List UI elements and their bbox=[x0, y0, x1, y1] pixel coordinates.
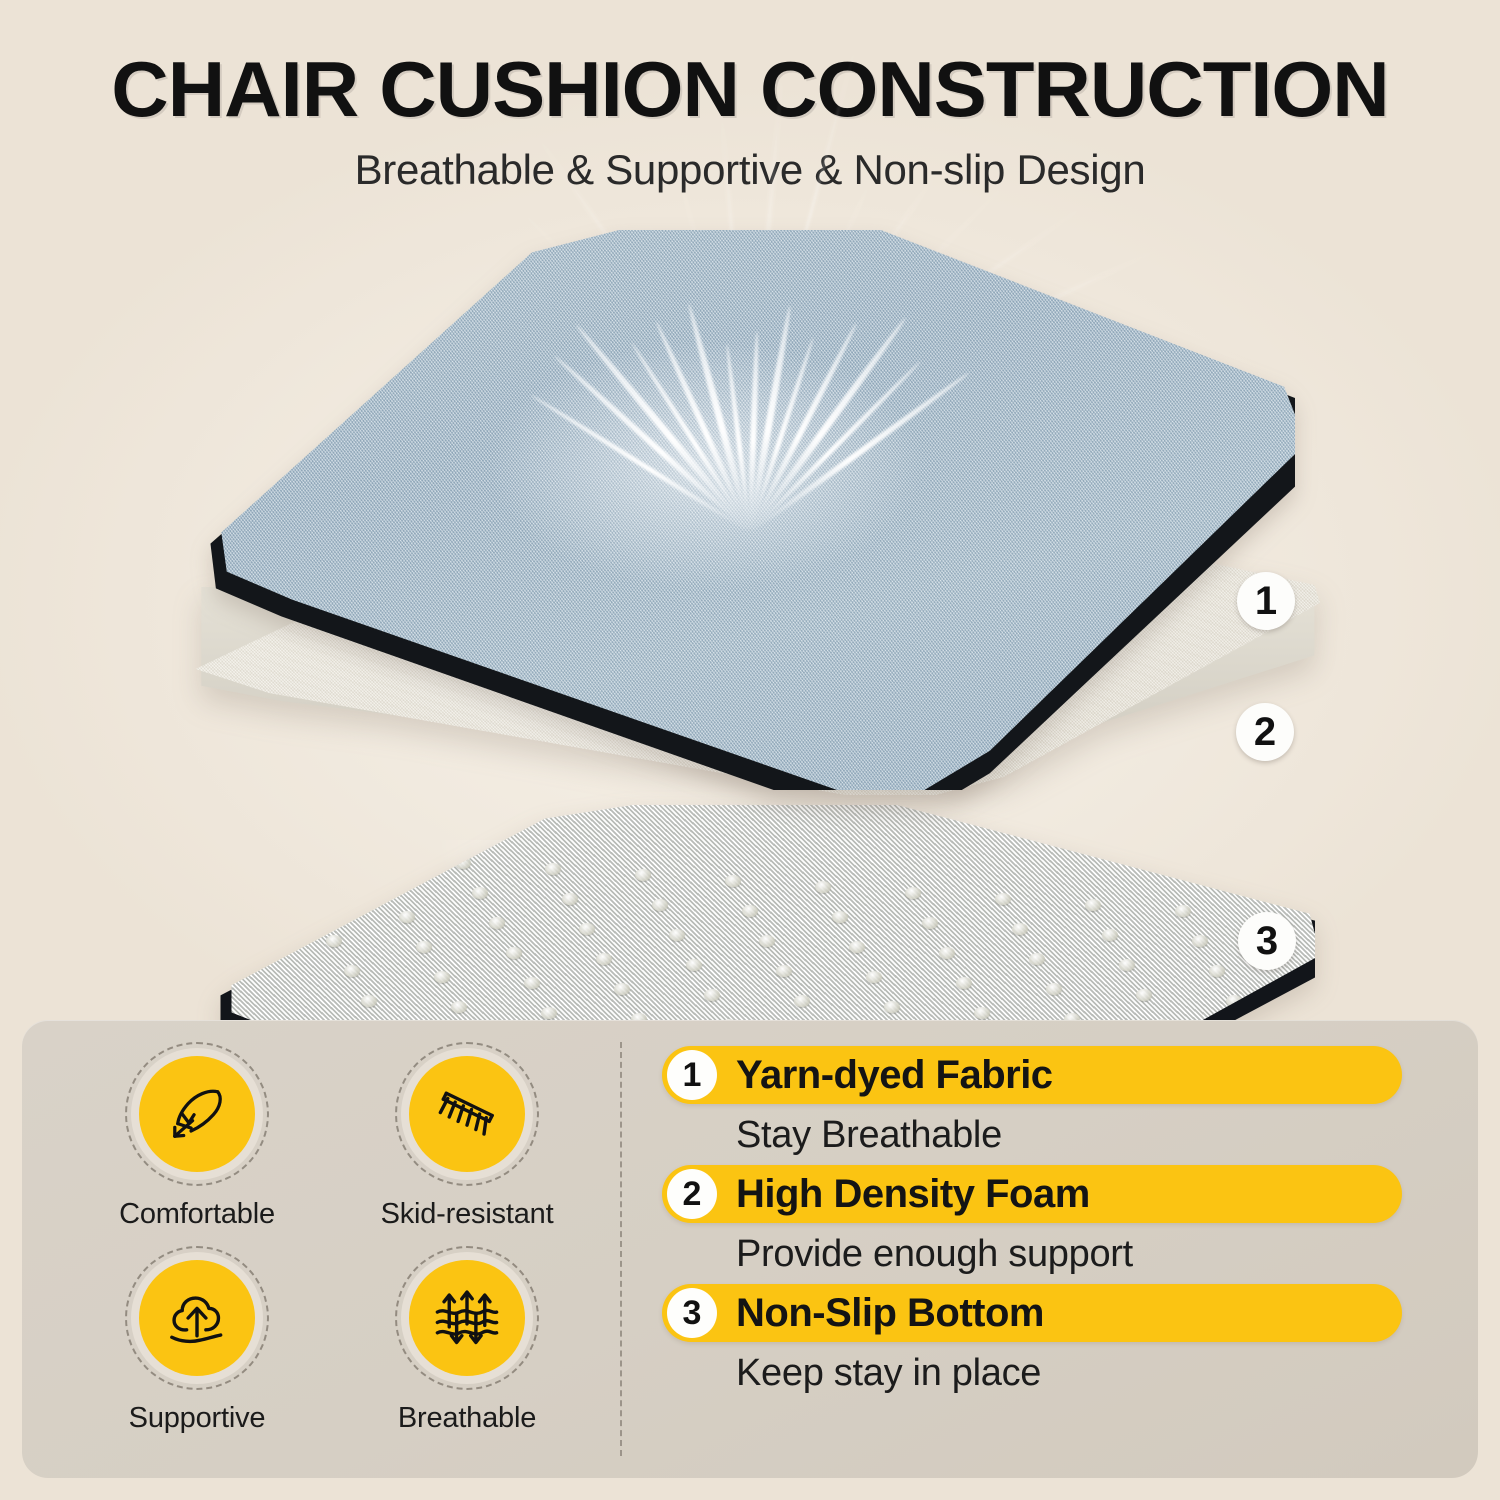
silicone-dot bbox=[1119, 959, 1135, 971]
feature-icon-grid: Comfortable bbox=[62, 1046, 602, 1454]
layer-list-item-1[interactable]: 1 Yarn-dyed Fabric Stay Breathable bbox=[662, 1046, 1452, 1157]
silicone-dot bbox=[344, 965, 360, 977]
silicone-dot bbox=[326, 935, 342, 947]
silicone-dot bbox=[849, 941, 865, 953]
silicone-dot bbox=[1046, 983, 1062, 995]
feature-supportive[interactable]: Supportive bbox=[62, 1250, 332, 1454]
header: CHAIR CUSHION CONSTRUCTION Breathable & … bbox=[0, 0, 1500, 194]
layer-feature-list: 1 Yarn-dyed Fabric Stay Breathable 2 Hig… bbox=[662, 1046, 1452, 1403]
layer-list-item-2[interactable]: 2 High Density Foam Provide enough suppo… bbox=[662, 1165, 1452, 1276]
silicone-dot bbox=[1102, 929, 1118, 941]
silicone-dot bbox=[884, 1001, 900, 1013]
silicone-dot bbox=[669, 929, 685, 941]
silicone-dot bbox=[1192, 935, 1208, 947]
feature-label: Supportive bbox=[129, 1402, 266, 1435]
poster-canvas: CHAIR CUSHION CONSTRUCTION Breathable & … bbox=[0, 0, 1500, 1500]
silicone-dot bbox=[686, 959, 702, 971]
feature-breathable[interactable]: Breathable bbox=[332, 1250, 602, 1454]
silicone-dot bbox=[506, 947, 522, 959]
layer-title: Non-Slip Bottom bbox=[736, 1291, 1044, 1336]
page-subtitle: Breathable & Supportive & Non-slip Desig… bbox=[0, 146, 1500, 194]
diagram-badge-1: 1 bbox=[1237, 572, 1295, 630]
silicone-dot bbox=[776, 965, 792, 977]
diagram-badge-2: 2 bbox=[1236, 703, 1294, 761]
layer-subtitle: Keep stay in place bbox=[736, 1352, 1452, 1395]
silicone-dot bbox=[524, 977, 540, 989]
features-panel: Comfortable bbox=[22, 1020, 1478, 1478]
layer-pill-2[interactable]: 2 High Density Foam bbox=[662, 1165, 1402, 1223]
feature-skid-resistant[interactable]: Skid-resistant bbox=[332, 1046, 602, 1250]
airflow-arrows-waves-icon bbox=[430, 1281, 504, 1355]
silicone-dot bbox=[596, 953, 612, 965]
layer-number-badge: 3 bbox=[667, 1288, 717, 1338]
feature-label: Skid-resistant bbox=[381, 1198, 554, 1231]
silicone-dot bbox=[974, 1007, 990, 1019]
silicone-dot bbox=[361, 995, 377, 1007]
silicone-dot bbox=[1136, 989, 1152, 1001]
brush-bristles-icon-circle bbox=[409, 1056, 525, 1172]
layer-pill-1[interactable]: 1 Yarn-dyed Fabric bbox=[662, 1046, 1402, 1104]
panel-divider bbox=[620, 1042, 622, 1456]
layer-number-badge: 1 bbox=[667, 1050, 717, 1100]
silicone-dot bbox=[939, 947, 955, 959]
layer-pill-3[interactable]: 3 Non-Slip Bottom bbox=[662, 1284, 1402, 1342]
light-streak bbox=[748, 371, 971, 535]
feather-icon-circle bbox=[139, 1056, 255, 1172]
silicone-dot bbox=[614, 983, 630, 995]
silicone-dot bbox=[866, 971, 882, 983]
diagram-badge-3: 3 bbox=[1238, 912, 1296, 970]
feather-icon bbox=[160, 1077, 234, 1151]
layer-subtitle: Provide enough support bbox=[736, 1233, 1452, 1276]
silicone-dot bbox=[1209, 965, 1225, 977]
layer-title: Yarn-dyed Fabric bbox=[736, 1053, 1053, 1098]
silicone-dot bbox=[541, 1007, 557, 1019]
layer-list-item-3[interactable]: 3 Non-Slip Bottom Keep stay in place bbox=[662, 1284, 1452, 1395]
silicone-dot bbox=[956, 977, 972, 989]
silicone-dot bbox=[759, 935, 775, 947]
silicone-dot bbox=[434, 971, 450, 983]
layer-title: High Density Foam bbox=[736, 1172, 1090, 1217]
silicone-dot bbox=[1029, 953, 1045, 965]
feature-label: Breathable bbox=[398, 1402, 536, 1435]
cotton-cloud-arrow-up-icon-circle bbox=[139, 1260, 255, 1376]
feature-comfortable[interactable]: Comfortable bbox=[62, 1046, 332, 1250]
yarn-dyed-fabric-layer bbox=[205, 230, 1295, 790]
breathability-light-streaks bbox=[205, 230, 1295, 790]
layer-number-badge: 2 bbox=[667, 1169, 717, 1219]
brush-bristles-icon bbox=[430, 1077, 504, 1151]
cotton-cloud-arrow-up-icon bbox=[160, 1281, 234, 1355]
page-title: CHAIR CUSHION CONSTRUCTION bbox=[0, 50, 1500, 128]
silicone-dot bbox=[416, 941, 432, 953]
feature-label: Comfortable bbox=[119, 1198, 275, 1231]
silicone-dot bbox=[794, 995, 810, 1007]
silicone-dot bbox=[451, 1001, 467, 1013]
fabric-woven-surface bbox=[205, 230, 1295, 790]
cushion-exploded-diagram: 1 2 3 bbox=[0, 200, 1500, 1000]
airflow-arrows-waves-icon-circle bbox=[409, 1260, 525, 1376]
silicone-dot bbox=[704, 989, 720, 1001]
layer-subtitle: Stay Breathable bbox=[736, 1114, 1452, 1157]
